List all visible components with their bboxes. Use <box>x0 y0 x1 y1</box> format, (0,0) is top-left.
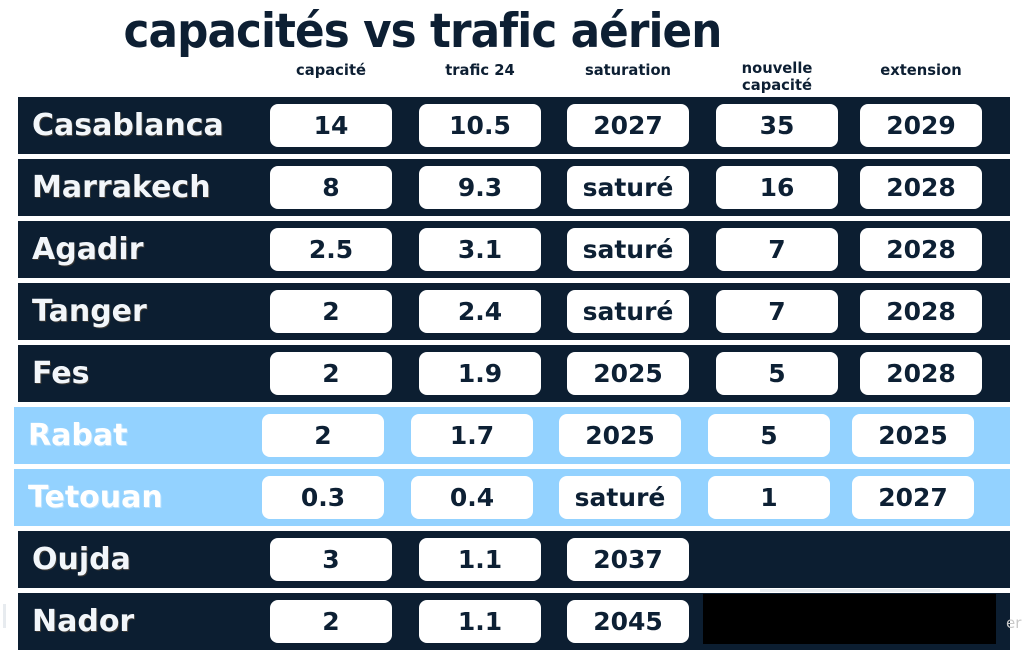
cell-nouvelle-capacite[interactable]: 35 <box>716 104 838 147</box>
table-row[interactable]: Marrakech89.3saturé162028 <box>18 159 1010 216</box>
column-header-line-2: capacité <box>719 77 835 94</box>
cell-trafic24[interactable]: 1.1 <box>419 538 541 581</box>
cell-saturation[interactable]: saturé <box>567 228 689 271</box>
cell-capacite[interactable]: 0.3 <box>262 476 384 519</box>
cell-saturation[interactable]: 2025 <box>567 352 689 395</box>
cell-capacite[interactable]: 2 <box>270 352 392 395</box>
data-table: Casablanca1410.52027352029Marrakech89.3s… <box>0 97 1024 655</box>
cell-trafic24[interactable]: 10.5 <box>419 104 541 147</box>
column-header-trafic24: trafic 24 <box>422 62 538 78</box>
cell-saturation[interactable]: 2027 <box>567 104 689 147</box>
row-label-city: Tanger <box>32 283 147 340</box>
ghost-bar-artifact-left <box>3 604 6 628</box>
cell-trafic24[interactable]: 1.1 <box>419 600 541 643</box>
cell-trafic24[interactable]: 9.3 <box>419 166 541 209</box>
cell-trafic24[interactable]: 0.4 <box>411 476 533 519</box>
cell-trafic24[interactable]: 1.9 <box>419 352 541 395</box>
cell-capacite[interactable]: 8 <box>270 166 392 209</box>
cell-capacite[interactable]: 3 <box>270 538 392 581</box>
column-header-extension: extension <box>863 62 979 78</box>
cell-saturation[interactable]: saturé <box>559 476 681 519</box>
ghost-text-artifact: er <box>1006 614 1021 632</box>
cell-capacite[interactable]: 2 <box>262 414 384 457</box>
cell-saturation[interactable]: saturé <box>567 166 689 209</box>
cell-nouvelle-capacite[interactable]: 5 <box>708 414 830 457</box>
cell-capacite[interactable]: 2 <box>270 290 392 333</box>
cell-nouvelle-capacite[interactable]: 1 <box>708 476 830 519</box>
row-label-city: Tetouan <box>28 469 163 526</box>
column-header-line-1: nouvelle <box>719 60 835 77</box>
row-label-city: Casablanca <box>32 97 224 154</box>
cell-saturation[interactable]: 2037 <box>567 538 689 581</box>
row-label-city: Rabat <box>28 407 127 464</box>
cell-trafic24[interactable]: 1.7 <box>411 414 533 457</box>
ghost-bar-artifact-top <box>760 589 940 592</box>
table-row[interactable]: Rabat21.7202552025 <box>14 407 1010 464</box>
cell-saturation[interactable]: saturé <box>567 290 689 333</box>
table-row[interactable]: Tanger22.4saturé72028 <box>18 283 1010 340</box>
row-label-city: Agadir <box>32 221 144 278</box>
cell-capacite[interactable]: 2 <box>270 600 392 643</box>
column-header-nouvelle-capacite: nouvellecapacité <box>719 60 835 94</box>
table-row[interactable]: Agadir2.53.1saturé72028 <box>18 221 1010 278</box>
cell-nouvelle-capacite[interactable]: 16 <box>716 166 838 209</box>
table-row[interactable]: Tetouan0.30.4saturé12027 <box>14 469 1010 526</box>
cell-extension[interactable]: 2028 <box>860 228 982 271</box>
page-title: capacités vs trafic aérien <box>30 4 816 60</box>
column-header-row: capacitétrafic 24saturationnouvellecapac… <box>0 62 1024 94</box>
row-label-city: Fes <box>32 345 89 402</box>
table-row[interactable]: Fes21.9202552028 <box>18 345 1010 402</box>
cell-extension[interactable]: 2025 <box>852 414 974 457</box>
cell-extension[interactable]: 2027 <box>852 476 974 519</box>
black-overlay-artifact <box>703 594 996 644</box>
column-header-capacite: capacité <box>273 62 389 78</box>
cell-extension[interactable]: 2028 <box>860 166 982 209</box>
column-header-saturation: saturation <box>570 62 686 78</box>
cell-saturation[interactable]: 2045 <box>567 600 689 643</box>
row-label-city: Oujda <box>32 531 131 588</box>
cell-extension[interactable]: 2029 <box>860 104 982 147</box>
row-label-city: Marrakech <box>32 159 211 216</box>
cell-capacite[interactable]: 2.5 <box>270 228 392 271</box>
slide-canvas: capacités vs trafic aérien capacitétrafi… <box>0 0 1024 661</box>
cell-trafic24[interactable]: 3.1 <box>419 228 541 271</box>
cell-nouvelle-capacite[interactable]: 5 <box>716 352 838 395</box>
cell-saturation[interactable]: 2025 <box>559 414 681 457</box>
cell-extension[interactable]: 2028 <box>860 352 982 395</box>
cell-trafic24[interactable]: 2.4 <box>419 290 541 333</box>
cell-capacite[interactable]: 14 <box>270 104 392 147</box>
row-label-city: Nador <box>32 593 134 650</box>
cell-extension[interactable]: 2028 <box>860 290 982 333</box>
table-row[interactable]: Oujda31.12037 <box>18 531 1010 588</box>
table-row[interactable]: Casablanca1410.52027352029 <box>18 97 1010 154</box>
cell-nouvelle-capacite[interactable]: 7 <box>716 228 838 271</box>
cell-nouvelle-capacite[interactable]: 7 <box>716 290 838 333</box>
